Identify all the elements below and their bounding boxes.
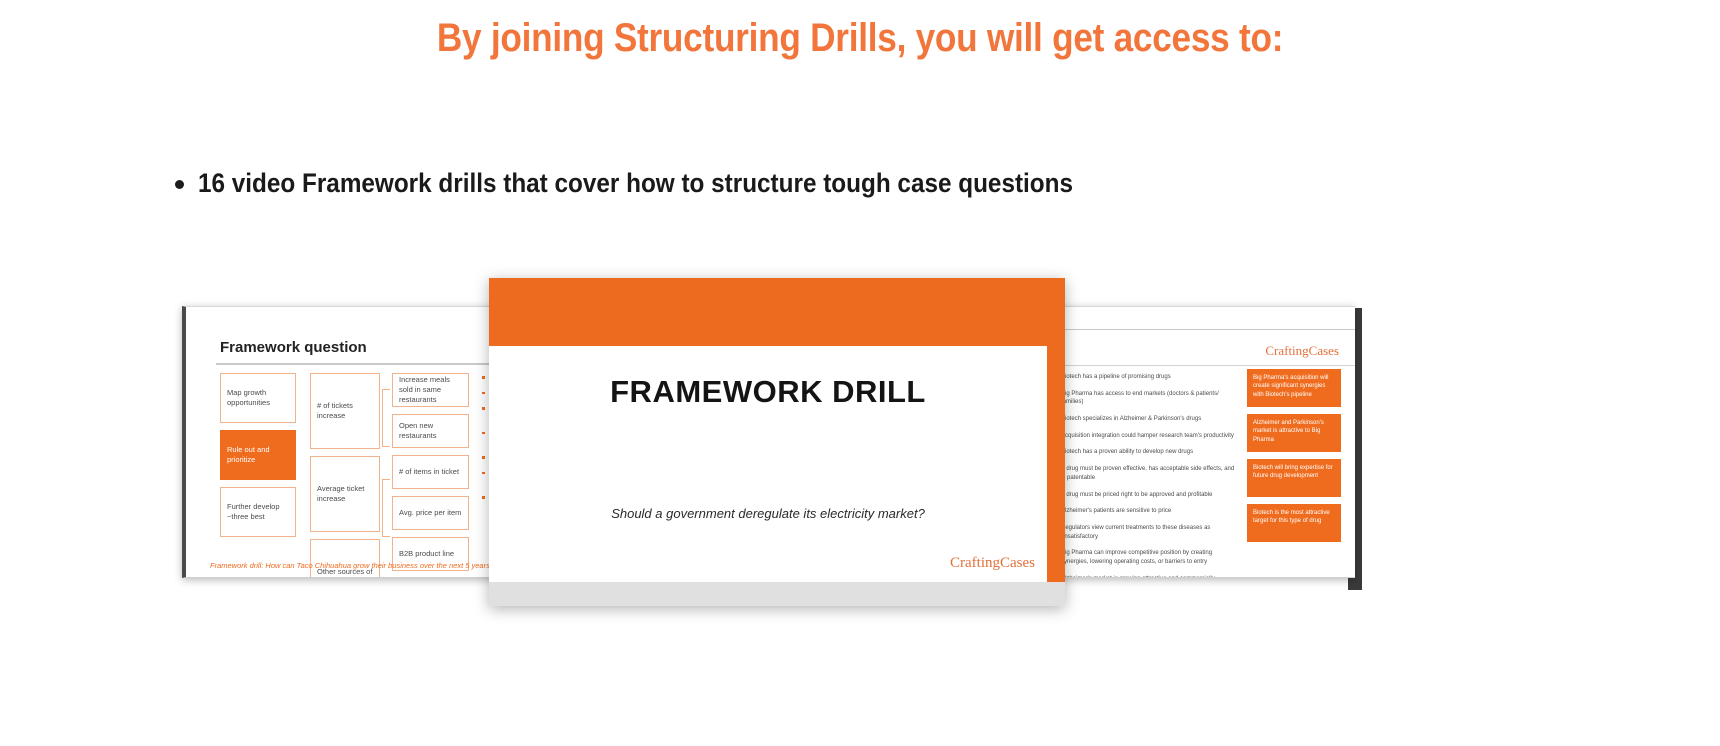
center-slide-orange-sidebar [1047,278,1065,606]
list-item: A drug must be priced right to be approv… [1061,491,1239,500]
conclusion-box: Biotech will bring expertise for future … [1247,459,1341,497]
list-item: Regulators view current treatments to th… [1061,524,1239,541]
step-box-highlighted: Rule out and prioritize [220,430,296,480]
subdriver-box: Avg. price per item [392,496,469,530]
slide-gallery: CraftingCases Biotech has a pipeline of … [0,0,1720,746]
left-slide-caption: Framework drill: How can Taco Chihuahua … [210,561,494,570]
subdriver-box: # of items in ticket [392,455,469,489]
left-slide-column-drivers: # of tickets increase Average ticket inc… [310,373,380,578]
conclusion-box: Biotech is the most attractive target fo… [1247,504,1341,542]
step-box: Map growth opportunities [220,373,296,423]
center-slide-orange-band [489,278,1065,346]
list-item: Biotech has a pipeline of promising drug… [1061,373,1239,382]
slide-thumbnail-center[interactable]: FRAMEWORK DRILL Should a government dere… [489,278,1065,606]
list-item: A drug must be proven effective, has acc… [1061,465,1239,482]
right-slide-divider-top [1055,329,1355,330]
subdriver-box: Open new restaurants [392,414,469,448]
left-slide-column-steps: Map growth opportunities Rule out and pr… [220,373,296,544]
tree-connector [382,479,390,537]
right-slide-conclusion-boxes: Big Pharma's acquisition will create sig… [1247,369,1341,549]
center-slide-footer-bar [489,582,1065,606]
right-slide-bullet-list: Biotech has a pipeline of promising drug… [1061,373,1239,578]
tree-connector [382,389,390,447]
list-item: Biotech specializes in Alzheimer & Parki… [1061,415,1239,424]
list-item: Big Pharma has access to end markets (do… [1061,390,1239,407]
slide-thumbnail-right[interactable]: CraftingCases Biotech has a pipeline of … [1055,306,1355,578]
list-item: Alzheimer's market is growing attractive… [1061,575,1239,578]
step-box: Further develop ~three best [220,487,296,537]
list-item: Big Pharma can improve competitive posit… [1061,549,1239,566]
driver-box: Average ticket increase [310,456,380,532]
list-item: Acquisition integration could hamper res… [1061,432,1239,441]
center-slide-logo: CraftingCases [950,555,1035,572]
right-slide-logo: CraftingCases [1265,343,1339,359]
right-slide-divider-mid [1055,365,1355,366]
subdriver-box: Increase meals sold in same restaurants [392,373,469,407]
list-item: Biotech has a proven ability to develop … [1061,448,1239,457]
driver-box: Other sources of revenues [310,539,380,578]
center-slide-subtitle: Should a government deregulate its elect… [489,506,1047,521]
conclusion-box: Alzheimer and Parkinson's market is attr… [1247,414,1341,452]
driver-box: # of tickets increase [310,373,380,449]
left-slide-column-subdrivers: Increase meals sold in same restaurants … [392,373,469,578]
center-slide-title: FRAMEWORK DRILL [489,374,1047,410]
marketing-page: By joining Structuring Drills, you will … [0,0,1720,746]
conclusion-box: Big Pharma's acquisition will create sig… [1247,369,1341,407]
list-item: Alzheimer's patients are sensitive to pr… [1061,507,1239,516]
left-slide-title: Framework question [220,339,367,356]
